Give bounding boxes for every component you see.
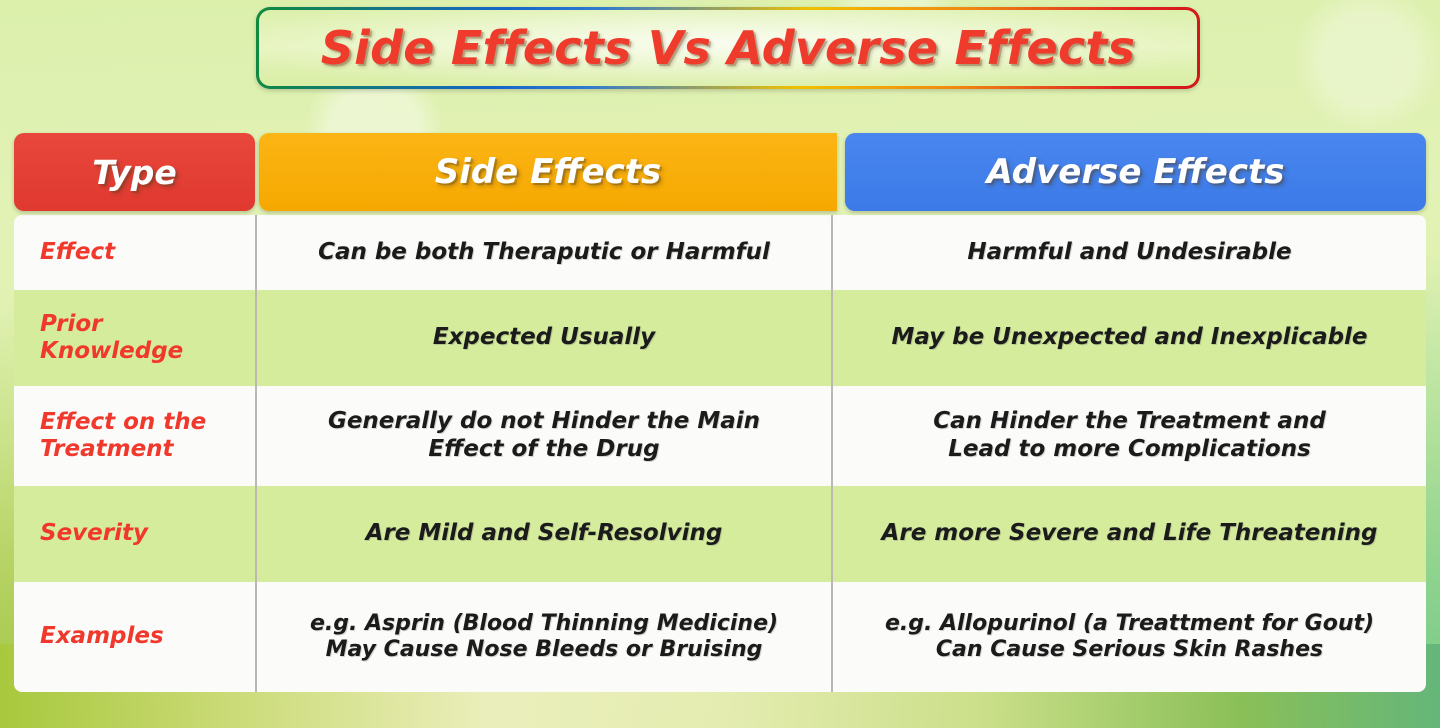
page-title: Side Effects Vs Adverse Effects	[321, 21, 1135, 75]
row-value-side-effect: Can be both Theraputic or Harmful	[255, 215, 833, 290]
title-banner: Side Effects Vs Adverse Effects	[256, 7, 1200, 89]
text-line: Harmful and Undesirable	[967, 239, 1291, 267]
row-value-side-severity: Are Mild and Self-Resolving	[255, 486, 833, 582]
row-value-side-prior-knowledge: Expected Usually	[255, 290, 833, 386]
row-label-effect: Effect	[14, 215, 255, 290]
row-label-examples: Examples	[14, 582, 255, 692]
column-header-side-effects: Side Effects	[259, 133, 837, 211]
table-body: Effect Can be both Theraputic or Harmful…	[14, 215, 1426, 692]
row-value-adverse-effect: Harmful and Undesirable	[833, 215, 1426, 290]
comparison-table: Type Side Effects Adverse Effects Effect…	[14, 133, 1426, 692]
column-header-type: Type	[14, 133, 255, 211]
row-value-adverse-prior-knowledge: May be Unexpected and Inexplicable	[833, 290, 1426, 386]
row-label-effect-on-treatment: Effect on the Treatment	[14, 386, 255, 486]
row-value-side-examples: e.g. Asprin (Blood Thinning Medicine) Ma…	[255, 582, 833, 692]
text-line: Effect of the Drug	[328, 436, 760, 464]
table-row: Examples e.g. Asprin (Blood Thinning Med…	[14, 582, 1426, 692]
text-line: May be Unexpected and Inexplicable	[891, 324, 1367, 352]
text-line: Are more Severe and Life Threatening	[882, 520, 1378, 548]
table-row: Severity Are Mild and Self-Resolving Are…	[14, 486, 1426, 582]
text-line: e.g. Asprin (Blood Thinning Medicine)	[310, 611, 778, 637]
row-value-side-effect-on-treatment: Generally do not Hinder the Main Effect …	[255, 386, 833, 486]
text-line: e.g. Allopurinol (a Treattment for Gout)	[885, 611, 1374, 637]
table-row: Prior Knowledge Expected Usually May be …	[14, 290, 1426, 386]
table-header-row: Type Side Effects Adverse Effects	[14, 133, 1426, 211]
text-line: Can be both Theraputic or Harmful	[318, 239, 770, 267]
row-value-adverse-effect-on-treatment: Can Hinder the Treatment and Lead to mor…	[833, 386, 1426, 486]
row-value-adverse-severity: Are more Severe and Life Threatening	[833, 486, 1426, 582]
title-banner-inner: Side Effects Vs Adverse Effects	[259, 10, 1197, 86]
text-line: Generally do not Hinder the Main	[328, 408, 760, 436]
text-line: Expected Usually	[433, 324, 655, 352]
text-line: Can Hinder the Treatment and	[933, 408, 1326, 436]
text-line: Can Cause Serious Skin Rashes	[885, 637, 1374, 663]
table-row: Effect Can be both Theraputic or Harmful…	[14, 215, 1426, 290]
text-line: Effect on	[40, 409, 155, 435]
column-header-adverse-effects: Adverse Effects	[845, 133, 1426, 211]
row-label-prior-knowledge: Prior Knowledge	[14, 290, 255, 386]
text-line: Are Mild and Self-Resolving	[366, 520, 723, 548]
text-line: Knowledge	[40, 338, 183, 364]
text-line: May Cause Nose Bleeds or Bruising	[310, 637, 778, 663]
text-line: Lead to more Complications	[933, 436, 1326, 464]
row-label-severity: Severity	[14, 486, 255, 582]
table-row: Effect on the Treatment Generally do not…	[14, 386, 1426, 486]
text-line: Prior	[40, 311, 103, 337]
infographic-page: Side Effects Vs Adverse Effects Type Sid…	[0, 0, 1440, 728]
row-value-adverse-examples: e.g. Allopurinol (a Treattment for Gout)…	[833, 582, 1426, 692]
